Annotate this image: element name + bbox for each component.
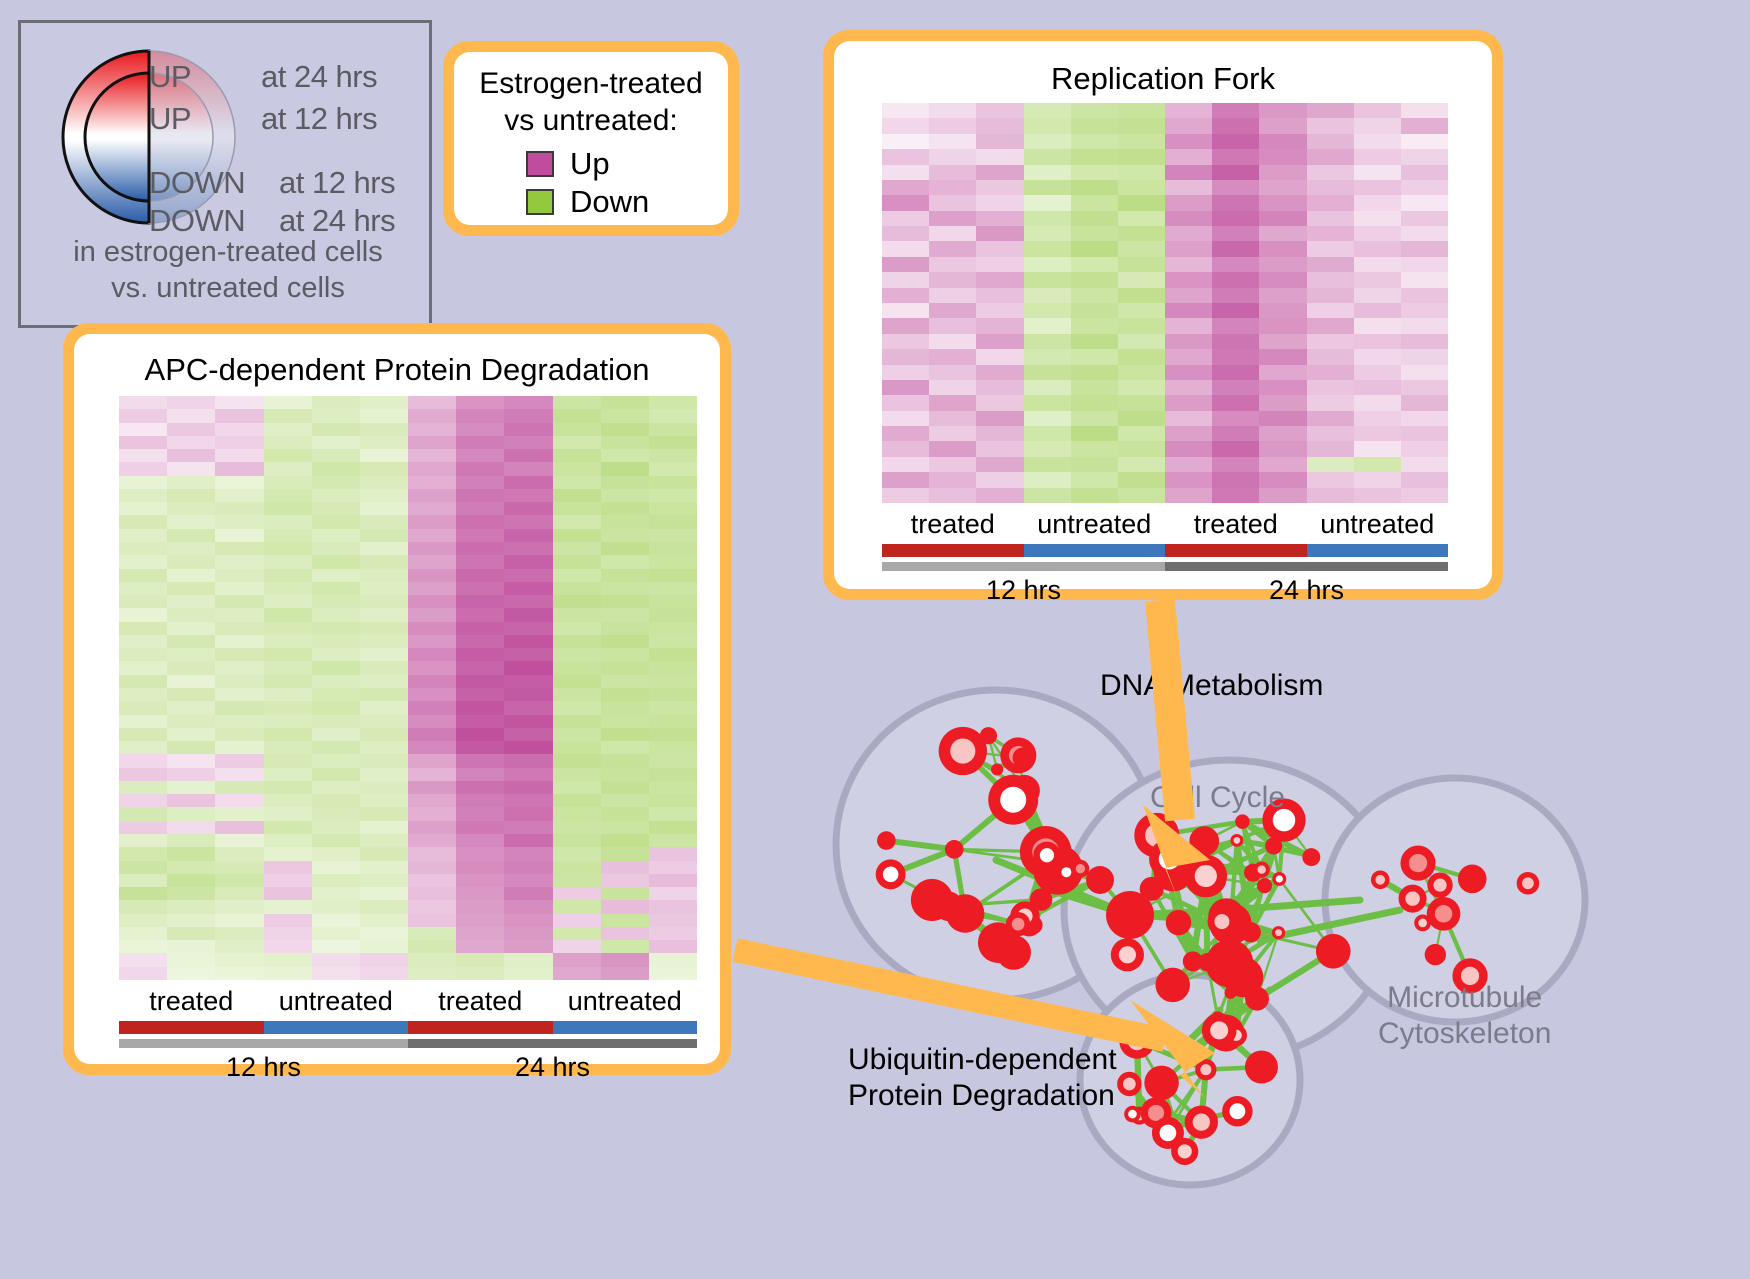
time-label: 12 hrs — [882, 575, 1165, 606]
heatmap-cell — [976, 134, 1023, 149]
heatmap-cell — [264, 701, 312, 714]
heatmap-cell — [1071, 334, 1118, 349]
heatmap-cell — [167, 582, 215, 595]
network-node[interactable] — [1183, 951, 1203, 971]
heatmap-cell — [1024, 334, 1071, 349]
heatmap-cell — [456, 436, 504, 449]
heatmap-cell — [882, 288, 929, 303]
heatmap-cell — [408, 582, 456, 595]
heatmap-cell — [649, 622, 697, 635]
legend-up-12-label: UP — [149, 101, 191, 137]
heatmap-cell — [408, 754, 456, 767]
network-node[interactable] — [1124, 1106, 1141, 1123]
heatmap-cell — [882, 211, 929, 226]
heatmap-cell — [976, 472, 1023, 487]
axis-bar-segment — [119, 1021, 264, 1034]
heatmap-cell — [504, 741, 552, 754]
heatmap-cell — [264, 582, 312, 595]
axis-bar-segment — [882, 544, 1024, 557]
heatmap-cell — [1118, 288, 1165, 303]
heatmap-cell — [215, 701, 263, 714]
heatmap-cell — [408, 396, 456, 409]
heatmap-cell — [312, 967, 360, 980]
heatmap-cell — [119, 834, 167, 847]
network-node[interactable] — [1425, 944, 1446, 965]
heatmap-cell — [553, 582, 601, 595]
heatmap-cell — [929, 426, 976, 441]
heatmap-cell — [976, 180, 1023, 195]
heatmap-cell — [1212, 134, 1259, 149]
network-node[interactable] — [1245, 1050, 1278, 1083]
heatmap-cell — [1024, 488, 1071, 503]
heatmap-cell — [553, 927, 601, 940]
heatmap-cell — [1212, 257, 1259, 272]
heatmap-cell — [504, 555, 552, 568]
heatmap-cell — [215, 462, 263, 475]
condition-label: untreated — [1307, 509, 1449, 540]
heatmap-cell — [1118, 380, 1165, 395]
heatmap-cell — [119, 648, 167, 661]
heatmap-cell — [882, 395, 929, 410]
heatmap-cell — [264, 476, 312, 489]
heatmap-cell — [264, 635, 312, 648]
heatmap-cell — [408, 768, 456, 781]
heatmap-cell — [264, 489, 312, 502]
heatmap-cell — [601, 940, 649, 953]
heatmap-cell — [167, 489, 215, 502]
heatmap-cell — [312, 608, 360, 621]
network-node[interactable] — [1235, 814, 1250, 829]
heatmap-cell — [264, 449, 312, 462]
network-node[interactable] — [1006, 912, 1030, 936]
heatmap-cell — [882, 257, 929, 272]
heatmap-cell — [649, 476, 697, 489]
heatmap-cell — [929, 472, 976, 487]
heatmap-cell — [408, 715, 456, 728]
heatmap-cell — [553, 542, 601, 555]
network-node[interactable] — [1427, 897, 1461, 931]
heatmap-cell — [312, 635, 360, 648]
heatmap-cell — [312, 529, 360, 542]
heatmap-cell — [882, 103, 929, 118]
network-node[interactable] — [991, 763, 1003, 775]
heatmap-cell — [1212, 241, 1259, 256]
heatmap-cell — [601, 529, 649, 542]
heatmap-cell — [601, 423, 649, 436]
heatmap-cell — [649, 489, 697, 502]
network-node[interactable] — [1013, 747, 1034, 768]
network-node[interactable] — [1111, 938, 1144, 971]
heatmap-cell — [312, 476, 360, 489]
heatmap-cell — [1259, 118, 1306, 133]
heatmap-cell — [119, 914, 167, 927]
heatmap-cell — [456, 502, 504, 515]
network-node[interactable] — [1030, 888, 1052, 910]
heatmap-cell — [1024, 165, 1071, 180]
network-node[interactable] — [1195, 1059, 1216, 1080]
heatmap-cell — [1354, 488, 1401, 503]
heatmap-cell — [601, 927, 649, 940]
heatmap-cell — [456, 715, 504, 728]
heatmap-cell — [1165, 149, 1212, 164]
heatmap-cell — [929, 103, 976, 118]
heatmap-cell — [264, 861, 312, 874]
heatmap-cell — [408, 595, 456, 608]
heatmap-cell — [1024, 303, 1071, 318]
network-node[interactable] — [1106, 891, 1154, 939]
heatmap-cell — [408, 622, 456, 635]
network-node[interactable] — [988, 775, 1038, 825]
network-node[interactable] — [1272, 926, 1285, 939]
heatmap-cell — [929, 211, 976, 226]
heatmap-cell — [504, 635, 552, 648]
heatmap-cell — [119, 675, 167, 688]
heatmap-cell — [1259, 257, 1306, 272]
heatmap-cell — [1401, 303, 1448, 318]
heatmap-cell — [167, 794, 215, 807]
heatmap-cell — [167, 781, 215, 794]
heatmap-cell — [1259, 272, 1306, 287]
heatmap-cell — [882, 118, 929, 133]
heatmap-cell — [215, 436, 263, 449]
heatmap-cell — [1401, 165, 1448, 180]
heatmap-cell — [553, 409, 601, 422]
heatmap-cell — [649, 462, 697, 475]
cluster-label-ubiquitin: Ubiquitin-dependent Protein Degradation — [848, 1042, 1117, 1114]
heatmap-cell — [408, 940, 456, 953]
heatmap-cell — [649, 542, 697, 555]
heatmap-cell — [504, 423, 552, 436]
network-node[interactable] — [1517, 872, 1540, 895]
heatmap-cell — [215, 794, 263, 807]
heatmap-cell — [1259, 103, 1306, 118]
network-node[interactable] — [1149, 839, 1189, 879]
network-node[interactable] — [1071, 860, 1089, 878]
heatmap-cell — [929, 441, 976, 456]
network-node[interactable] — [980, 727, 997, 744]
network-node[interactable] — [1427, 872, 1452, 897]
heatmap-cell — [1024, 103, 1071, 118]
heatmap-cell — [1401, 380, 1448, 395]
heatmap-cell — [504, 595, 552, 608]
heatmap-cell — [1401, 241, 1448, 256]
heatmap-cell — [553, 569, 601, 582]
heatmap-cell — [553, 675, 601, 688]
heatmap-cell — [167, 542, 215, 555]
heatmap-cell — [408, 661, 456, 674]
heatmap-cell — [553, 701, 601, 714]
heatmap-cell — [264, 900, 312, 913]
heatmap-cell — [1307, 303, 1354, 318]
heatmap-cell — [360, 462, 408, 475]
heatmap-cell — [167, 502, 215, 515]
heatmap-cell — [215, 847, 263, 860]
network-node[interactable] — [1316, 934, 1351, 969]
heatmap-cell — [1401, 211, 1448, 226]
heatmap-cell — [215, 661, 263, 674]
network-node[interactable] — [1189, 826, 1219, 856]
heatmap-cell — [1024, 288, 1071, 303]
heatmap-cell — [167, 715, 215, 728]
network-node[interactable] — [1117, 1072, 1141, 1096]
heatmap-cell — [456, 569, 504, 582]
heatmap-cell — [553, 555, 601, 568]
heatmap-cell — [601, 834, 649, 847]
heatmap-cell — [360, 622, 408, 635]
heatmap-cell — [119, 728, 167, 741]
legend-item-down: Down — [526, 186, 649, 217]
heatmap-cell — [601, 608, 649, 621]
heatmap-cell — [1354, 288, 1401, 303]
heatmap-cell — [456, 728, 504, 741]
network-node[interactable] — [1272, 872, 1286, 886]
network-node[interactable] — [1458, 865, 1487, 894]
network-node[interactable] — [1371, 870, 1390, 889]
heatmap-cell — [167, 462, 215, 475]
heatmap-cell — [408, 781, 456, 794]
heatmap-cell — [649, 436, 697, 449]
heatmap-cell — [119, 529, 167, 542]
heatmap-cell — [553, 861, 601, 874]
heatmap-cell — [1165, 426, 1212, 441]
heatmap-cell — [882, 349, 929, 364]
heatmap-cell — [1259, 195, 1306, 210]
heatmap-cell — [1401, 318, 1448, 333]
replication-fork-panel: Replication Fork treated untreated treat… — [823, 30, 1503, 600]
heatmap-cell — [167, 754, 215, 767]
heatmap-cell — [119, 515, 167, 528]
heatmap-cell — [312, 569, 360, 582]
heatmap-cell — [1165, 395, 1212, 410]
heatmap-cell — [649, 728, 697, 741]
heatmap-cell — [312, 436, 360, 449]
heatmap-cell — [167, 847, 215, 860]
heatmap-cell — [215, 688, 263, 701]
heatmap-cell — [553, 847, 601, 860]
heatmap-cell — [1259, 380, 1306, 395]
heatmap-cell — [456, 462, 504, 475]
network-node[interactable] — [1245, 987, 1269, 1011]
heatmap-cell — [504, 582, 552, 595]
network-node[interactable] — [1224, 987, 1236, 999]
heatmap-cell — [215, 927, 263, 940]
heatmap-cell — [264, 542, 312, 555]
network-node[interactable] — [877, 831, 896, 850]
network-node[interactable] — [876, 859, 906, 889]
network-node[interactable] — [934, 891, 964, 921]
heatmap-cell — [553, 728, 601, 741]
heatmap-cell — [312, 847, 360, 860]
network-node[interactable] — [1119, 1023, 1154, 1058]
heatmap-cell — [1354, 472, 1401, 487]
heatmap-cell — [215, 675, 263, 688]
heatmap-cell — [601, 635, 649, 648]
network-node[interactable] — [1399, 885, 1427, 913]
heatmap-cell — [119, 582, 167, 595]
network-node[interactable] — [1230, 834, 1243, 847]
heatmap-cell — [1354, 395, 1401, 410]
heatmap-cell — [312, 423, 360, 436]
heatmap-cell — [504, 768, 552, 781]
network-node[interactable] — [1166, 910, 1192, 936]
heatmap-cell — [1307, 149, 1354, 164]
network-node[interactable] — [1155, 968, 1190, 1003]
heatmap-cell — [601, 542, 649, 555]
network-node[interactable] — [1185, 1105, 1218, 1138]
heatmap-cell — [360, 807, 408, 820]
heatmap-cell — [1354, 426, 1401, 441]
heatmap-cell — [1212, 303, 1259, 318]
heatmap-cell — [312, 515, 360, 528]
heatmap-cell — [504, 688, 552, 701]
heatmap-cell — [1071, 472, 1118, 487]
heatmap-cell — [1259, 165, 1306, 180]
heatmap-cell — [1354, 380, 1401, 395]
heatmap-cell — [360, 661, 408, 674]
heatmap-cell — [264, 940, 312, 953]
network-node[interactable] — [1302, 848, 1320, 866]
heatmap-cell — [882, 411, 929, 426]
network-node[interactable] — [1400, 846, 1435, 881]
heatmap-cell — [1354, 226, 1401, 241]
heatmap-cell — [312, 807, 360, 820]
heatmap-cell — [456, 794, 504, 807]
heatmap-cell — [504, 967, 552, 980]
heatmap-cell — [264, 462, 312, 475]
heatmap-cell — [119, 542, 167, 555]
network-node[interactable] — [1033, 842, 1060, 869]
heatmap-cell — [882, 134, 929, 149]
heatmap-cell — [504, 648, 552, 661]
network-node[interactable] — [1208, 907, 1237, 936]
heatmap-cell — [929, 241, 976, 256]
heatmap-cell — [264, 688, 312, 701]
heatmap-cell — [119, 940, 167, 953]
network-node[interactable] — [1144, 1066, 1178, 1100]
network-node[interactable] — [1086, 866, 1114, 894]
heatmap-cell — [1165, 488, 1212, 503]
apc-condition-labels: treated untreated treated untreated — [119, 986, 697, 1017]
down-color-swatch — [526, 189, 554, 215]
heatmap-cell — [504, 569, 552, 582]
heatmap-cell — [1024, 426, 1071, 441]
heatmap-cell — [1024, 195, 1071, 210]
cluster-label-dna-metabolism: DNA Metabolism — [1100, 668, 1323, 704]
heatmap-cell — [360, 582, 408, 595]
network-node[interactable] — [1202, 1013, 1237, 1048]
heatmap-cell — [601, 701, 649, 714]
heatmap-cell — [408, 542, 456, 555]
heatmap-cell — [601, 847, 649, 860]
network-node[interactable] — [1184, 855, 1227, 898]
heatmap-cell — [119, 861, 167, 874]
heatmap-cell — [360, 967, 408, 980]
heatmap-cell — [264, 807, 312, 820]
heatmap-cell — [649, 754, 697, 767]
heatmap-cell — [215, 529, 263, 542]
heatmap-cell — [929, 134, 976, 149]
heatmap-cell — [504, 529, 552, 542]
heatmap-cell — [312, 661, 360, 674]
heatmap-cell — [264, 967, 312, 980]
heatmap-cell — [215, 834, 263, 847]
heatmap-cell — [1165, 472, 1212, 487]
heatmap-cell — [601, 741, 649, 754]
heatmap-cell — [1212, 441, 1259, 456]
heatmap-cell — [408, 953, 456, 966]
heatmap-cell — [1307, 272, 1354, 287]
heatmap-cell — [1071, 272, 1118, 287]
heatmap-cell — [1118, 395, 1165, 410]
heatmap-cell — [929, 411, 976, 426]
axis-bar-segment — [1024, 544, 1166, 557]
heatmap-cell — [504, 715, 552, 728]
updown-legend-title: Estrogen-treated vs untreated: — [454, 66, 728, 139]
heatmap-cell — [456, 874, 504, 887]
heatmap-cell — [601, 396, 649, 409]
heatmap-cell — [360, 515, 408, 528]
heatmap-cell — [312, 396, 360, 409]
heatmap-cell — [553, 476, 601, 489]
heatmap-cell — [1212, 165, 1259, 180]
heatmap-cell — [1071, 180, 1118, 195]
heatmap-cell — [1307, 488, 1354, 503]
heatmap-cell — [215, 967, 263, 980]
heatmap-cell — [408, 675, 456, 688]
heatmap-cell — [1307, 211, 1354, 226]
heatmap-cell — [119, 661, 167, 674]
network-node[interactable] — [1254, 861, 1270, 877]
heatmap-cell — [167, 449, 215, 462]
heatmap-cell — [1354, 165, 1401, 180]
heatmap-cell — [882, 272, 929, 287]
network-node[interactable] — [945, 840, 964, 859]
heatmap-cell — [215, 476, 263, 489]
heatmap-cell — [601, 821, 649, 834]
heatmap-cell — [360, 542, 408, 555]
heatmap-cell — [312, 953, 360, 966]
heatmap-cell — [167, 661, 215, 674]
heatmap-cell — [1307, 426, 1354, 441]
heatmap-cell — [1307, 195, 1354, 210]
heatmap-cell — [649, 569, 697, 582]
heatmap-cell — [167, 953, 215, 966]
network-node[interactable] — [1222, 1096, 1253, 1127]
network-node[interactable] — [939, 727, 987, 775]
heatmap-cell — [408, 807, 456, 820]
heatmap-cell — [929, 303, 976, 318]
heatmap-cell — [553, 821, 601, 834]
heatmap-cell — [167, 622, 215, 635]
heatmap-cell — [649, 529, 697, 542]
condition-label: untreated — [264, 986, 409, 1017]
heatmap-cell — [649, 688, 697, 701]
heatmap-cell — [167, 529, 215, 542]
heatmap-cell — [601, 715, 649, 728]
heatmap-cell — [408, 569, 456, 582]
heatmap-cell — [1354, 103, 1401, 118]
heatmap-cell — [264, 661, 312, 674]
heatmap-cell — [264, 847, 312, 860]
network-node[interactable] — [996, 935, 1031, 970]
heatmap-cell — [312, 754, 360, 767]
heatmap-cell — [504, 675, 552, 688]
heatmap-cell — [601, 953, 649, 966]
heatmap-cell — [1401, 288, 1448, 303]
heatmap-cell — [312, 409, 360, 422]
network-node[interactable] — [1257, 878, 1272, 893]
network-node[interactable] — [1152, 1117, 1184, 1149]
